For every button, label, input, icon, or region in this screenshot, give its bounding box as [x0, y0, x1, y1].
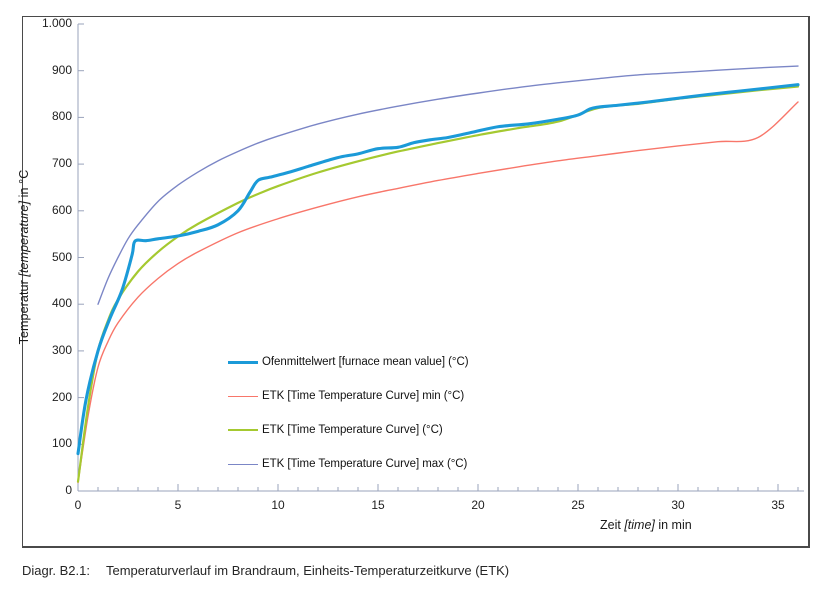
y-tick-label: 900 — [20, 63, 72, 77]
caption-identifier: Diagr. B2.1: — [22, 563, 106, 578]
x-axis-label-suffix: in min — [655, 518, 692, 532]
y-tick-label: 500 — [20, 250, 72, 264]
figure-caption: Diagr. B2.1:Temperaturverlauf im Brandra… — [22, 563, 509, 578]
legend-item: ETK [Time Temperature Curve] (°C) — [228, 413, 468, 447]
legend-label: Ofenmittelwert [furnace mean value] (°C) — [262, 356, 468, 368]
y-tick-label: 200 — [20, 390, 72, 404]
legend-label: ETK [Time Temperature Curve] max (°C) — [262, 458, 467, 470]
x-axis-label: Zeit [time] in min — [600, 518, 692, 532]
x-axis-label-prefix: Zeit — [600, 518, 624, 532]
y-tick-label: 1.000 — [20, 16, 72, 30]
figure-container: Temperatur [temperature] in °C Zeit [tim… — [0, 0, 826, 600]
caption-title: Temperaturverlauf im Brandraum, Einheits… — [106, 563, 509, 578]
y-tick-label: 700 — [20, 156, 72, 170]
chart-legend: Ofenmittelwert [furnace mean value] (°C)… — [228, 345, 468, 481]
x-tick-label: 15 — [358, 498, 398, 512]
y-axis-label-suffix: in °C — [17, 170, 31, 201]
y-tick-label: 0 — [20, 483, 72, 497]
x-tick-label: 25 — [558, 498, 598, 512]
legend-swatch-icon — [228, 429, 258, 431]
legend-swatch-icon — [228, 464, 258, 465]
x-tick-label: 10 — [258, 498, 298, 512]
series-line — [98, 66, 798, 304]
y-axis-label-prefix: Temperatur — [17, 277, 31, 345]
x-tick-label: 20 — [458, 498, 498, 512]
legend-swatch-icon — [228, 361, 258, 364]
x-tick-label: 5 — [158, 498, 198, 512]
y-tick-label: 400 — [20, 296, 72, 310]
y-tick-label: 300 — [20, 343, 72, 357]
legend-item: ETK [Time Temperature Curve] min (°C) — [228, 379, 468, 413]
x-tick-label: 0 — [58, 498, 98, 512]
y-tick-label: 100 — [20, 436, 72, 450]
legend-label: ETK [Time Temperature Curve] min (°C) — [262, 390, 464, 402]
legend-item: ETK [Time Temperature Curve] max (°C) — [228, 447, 468, 481]
y-tick-label: 800 — [20, 109, 72, 123]
legend-label: ETK [Time Temperature Curve] (°C) — [262, 424, 443, 436]
x-tick-label: 30 — [658, 498, 698, 512]
x-tick-label: 35 — [758, 498, 798, 512]
y-tick-label: 600 — [20, 203, 72, 217]
legend-swatch-icon — [228, 396, 258, 397]
x-axis-label-italic: [time] — [624, 518, 655, 532]
legend-item: Ofenmittelwert [furnace mean value] (°C) — [228, 345, 468, 379]
